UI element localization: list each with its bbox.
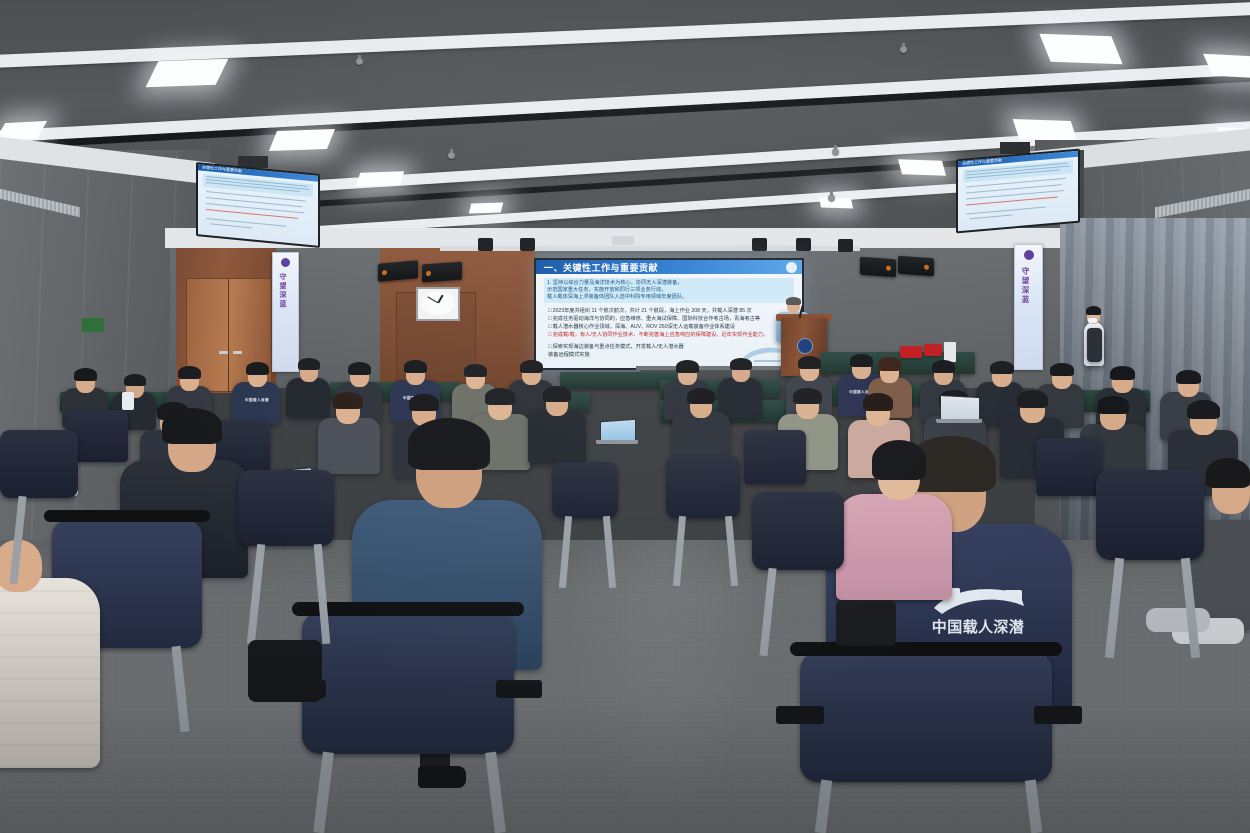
wall-clock [416,287,460,321]
ceiling-panel-light [819,197,853,208]
banner-right-text: 守望深蓝 [1020,267,1031,305]
speaker-cone [924,265,929,270]
slide-bullet: □ 载人潜水器核心作业领域，深海、AUV、ROV 250深无人运载装备作业体系建… [548,324,735,330]
slide-highlight-line: 1. 坚持以综合力量及海洋技术为核心，协同无人深潜装备， [547,280,682,286]
staff-hair [1086,306,1101,315]
ceiling-panel-light [898,159,946,176]
tv-text-line [206,218,286,227]
slide-bullet: 装备远程模式实施 [548,352,590,358]
stage-light [838,239,853,252]
banner-right: 守望深蓝 [1014,244,1043,370]
jbl-speaker-right-2 [898,256,934,277]
speaker-cone [426,271,431,276]
uniform-logo-text: 中国载人深潜 [240,398,274,403]
sprinkler-head [832,148,839,155]
tv-title-text: 关键性工作与重要贡献 [202,165,242,175]
slide-bullet: □ 2023年度共组织 11 个航次航次，共计 21 个航段，海上作业 208 … [548,308,752,314]
projection-screen: 一、关键性工作与重要贡献 1. 坚持以综合力量及海洋技术为核心，协同无人深潜装备… [534,258,804,370]
backpack[interactable] [836,600,896,646]
slide-bullet: □ 探索实现海边装备与重点任务模式，开发载人/无人潜水器 [548,344,684,350]
banner-left: 守望深蓝 [272,252,299,372]
stage-light [752,238,767,251]
shoe [1146,608,1210,632]
sprinkler-head [448,152,455,159]
water-bottle[interactable] [122,392,134,410]
flower-arrangement [924,344,942,356]
tv-text-line [966,207,1046,215]
ceiling-panel-light [356,171,405,187]
speaker-cone [382,270,387,275]
jbl-speaker-left-1 [378,260,418,281]
clock-face [421,291,455,315]
tv-title-text: 关键性工作与重要贡献 [962,157,1002,166]
ceiling-panel-light [269,129,335,151]
banner-emblem-icon [1024,250,1034,260]
door-handle[interactable] [233,351,242,354]
ceiling-panel-light [1013,119,1077,141]
stage-light [478,238,493,251]
stage-light [796,238,811,251]
slide-logo-icon [786,262,797,273]
presenter-hair [786,297,801,305]
staff-vest [1087,328,1102,362]
door-handle[interactable] [219,351,228,354]
ceiling-projector [612,236,634,245]
exit-sign [82,318,104,332]
speaker-cone [886,266,891,271]
ceiling-panel-light [146,59,229,87]
slide-highlight-line: 示范国家重大任务，实施开放和同行三项业务行动， [547,287,666,293]
tv-text-line [970,215,1012,220]
stage-light [520,238,535,251]
jbl-speaker-left-2 [422,262,462,283]
name-card [944,342,956,362]
shoe [418,766,466,788]
banner-left-text: 守望深蓝 [277,273,287,309]
sprinkler-head [828,194,835,201]
slide-title: 一、关键性工作与重要贡献 [544,261,658,274]
flower-arrangement [900,346,922,358]
podium-emblem-icon [797,338,813,354]
slide-bullet: □ 完成载/载，有人/无人协同作业技术，不断完善海上应急响应的保障建设，近年实现… [548,332,768,338]
center-aisle [560,540,770,833]
banner-emblem-icon [281,258,290,267]
slide-bullet: □ 完成任务驱动海洋与协同的，应急维修、重大海试保障、国际科技合作考古场，青海考… [548,316,760,322]
slide-highlight-box: 1. 坚持以综合力量及海洋技术为核心，协同无人深潜装备， 示范国家重大任务，实施… [544,278,794,303]
sprinkler-head [900,46,907,53]
ceiling-panel-light [1039,34,1122,65]
conference-room-scene: 一、关键性工作与重要贡献 1. 坚持以综合力量及海洋技术为核心，协同无人深潜装备… [0,0,1250,833]
tv-text-line [210,223,252,228]
jbl-speaker-right-1 [860,257,896,278]
clock-minute-hand [427,296,438,303]
sprinkler-head [356,58,363,65]
puffer-quilting [0,578,100,768]
uniform-logo-text: 中国载人深潜 [908,616,1048,637]
face-mask [1088,318,1097,323]
ceiling-panel-light [469,202,503,213]
slide-highlight-line: 载人载体深海上浮装备体团队入选中科院专用领域年度团队。 [547,294,687,300]
backpack[interactable] [248,640,322,702]
tv-mount [1000,142,1030,154]
presentation-slide: 一、关键性工作与重要贡献 1. 坚持以综合力量及海洋技术为核心，协同无人深潜装备… [536,260,802,368]
